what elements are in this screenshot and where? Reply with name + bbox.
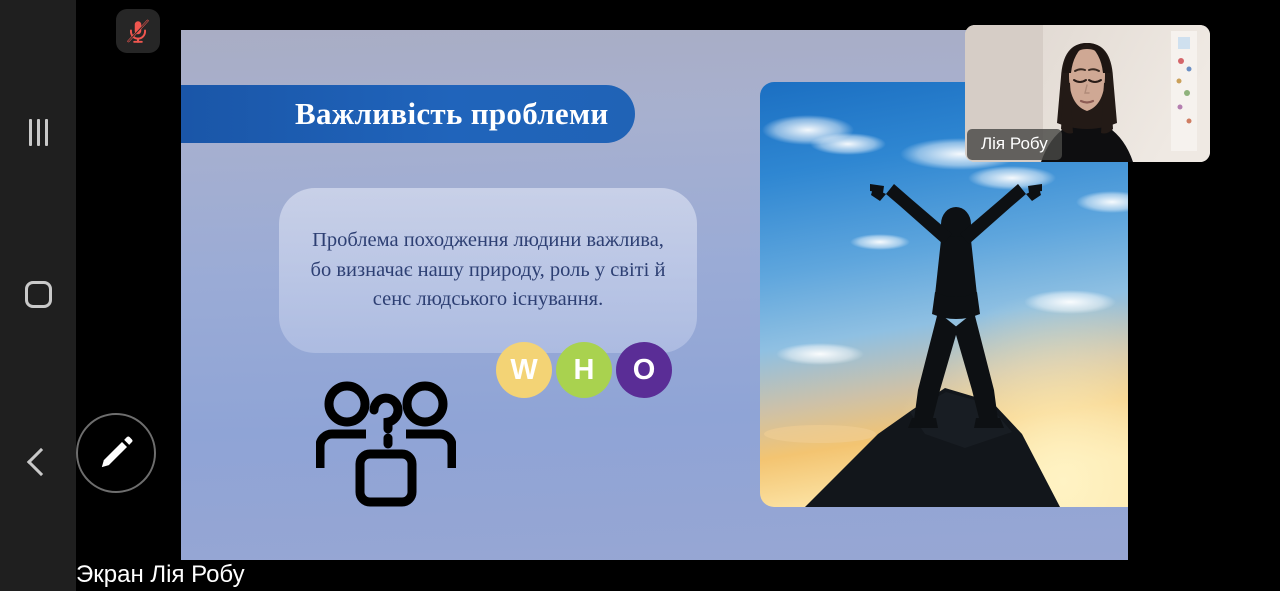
people-question-icon (316, 378, 456, 508)
who-badge-h: H (556, 342, 612, 398)
annotate-button[interactable] (76, 413, 156, 493)
microphone-muted-icon (125, 18, 151, 44)
chevron-left-icon (27, 448, 55, 476)
who-badge-o: O (616, 342, 672, 398)
recent-apps-icon (29, 119, 48, 146)
back-button[interactable] (0, 434, 76, 490)
participant-name-label: Лія Робу (967, 129, 1062, 160)
mic-muted-badge[interactable] (116, 9, 160, 53)
slide-body-text: Проблема походження людини важлива, бо в… (279, 226, 697, 316)
slide-title-banner: Важливість проблеми (181, 85, 635, 143)
recent-apps-button[interactable] (0, 104, 76, 160)
pencil-icon (96, 433, 136, 473)
who-badge-letter: O (633, 354, 656, 387)
participant-video-tile[interactable]: Лія Робу (965, 25, 1210, 162)
home-icon (25, 281, 52, 308)
screen-share-label: Экран Лія Робу (76, 561, 245, 589)
who-badge-letter: H (574, 354, 595, 387)
who-badge-letter: W (510, 354, 537, 387)
who-badge-w: W (496, 342, 552, 398)
slide-body-bubble: Проблема походження людини важлива, бо в… (279, 188, 697, 353)
home-button[interactable] (0, 266, 76, 322)
meeting-screen-share-view: Важливість проблеми Проблема походження … (76, 0, 1280, 591)
system-nav-rail (0, 0, 76, 591)
slide-title: Важливість проблеми (181, 96, 609, 132)
who-badges: W H O (496, 342, 672, 398)
